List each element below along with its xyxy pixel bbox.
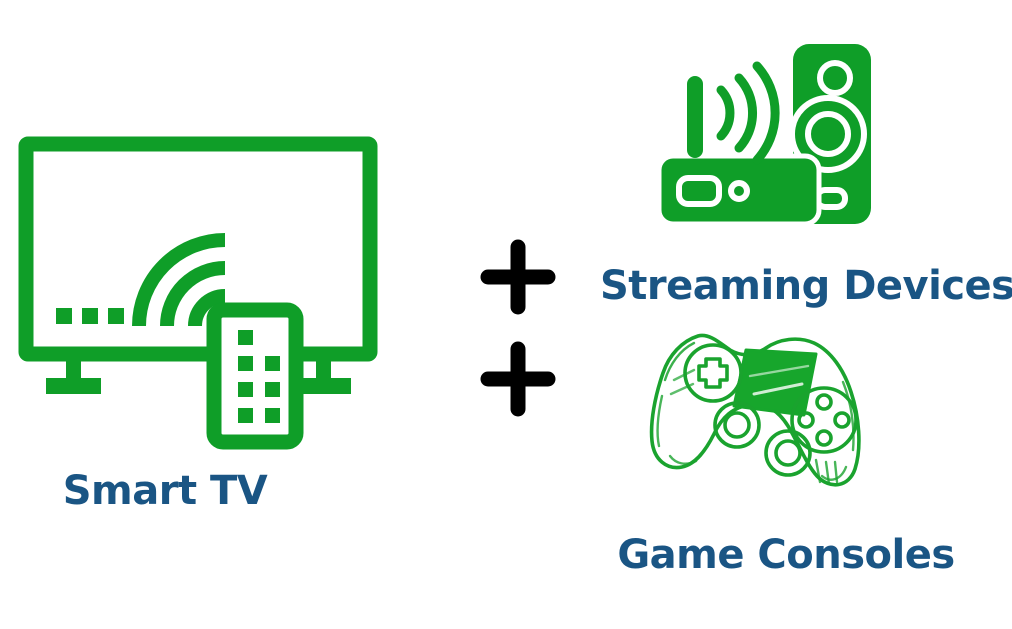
right-stick-cap	[776, 441, 800, 465]
action-button-right	[835, 413, 849, 427]
smart-tv-label: Smart TV	[0, 468, 330, 514]
action-buttons-ring	[792, 388, 856, 452]
game-consoles-group: Game Consoles	[580, 310, 992, 610]
smart-tv-group: Smart TV	[0, 130, 400, 530]
game-consoles-label: Game Consoles	[580, 532, 992, 578]
controller-sketch	[652, 335, 859, 484]
antenna-rod	[687, 76, 703, 158]
dpad-ring	[685, 345, 741, 401]
streaming-devices-group: Streaming Devices	[600, 20, 1012, 320]
tv-indicator-lights	[56, 308, 124, 324]
remote-control	[214, 310, 296, 442]
game-controller-icon	[638, 310, 878, 510]
plus-icon-1	[476, 235, 560, 319]
left-stick-cap	[725, 413, 749, 437]
streaming-device-icon	[645, 30, 885, 240]
action-button-left	[799, 413, 813, 427]
set-top-box	[659, 156, 819, 224]
streaming-devices-label: Streaming Devices	[600, 263, 1012, 309]
action-button-top	[817, 395, 831, 409]
dpad-cross	[699, 359, 727, 387]
action-button-bottom	[817, 431, 831, 445]
smart-tv-icon	[18, 130, 378, 450]
infographic-canvas: Smart TV	[0, 0, 1012, 629]
plus-icon-2	[476, 337, 560, 421]
wifi-signal-arcs	[721, 66, 775, 160]
